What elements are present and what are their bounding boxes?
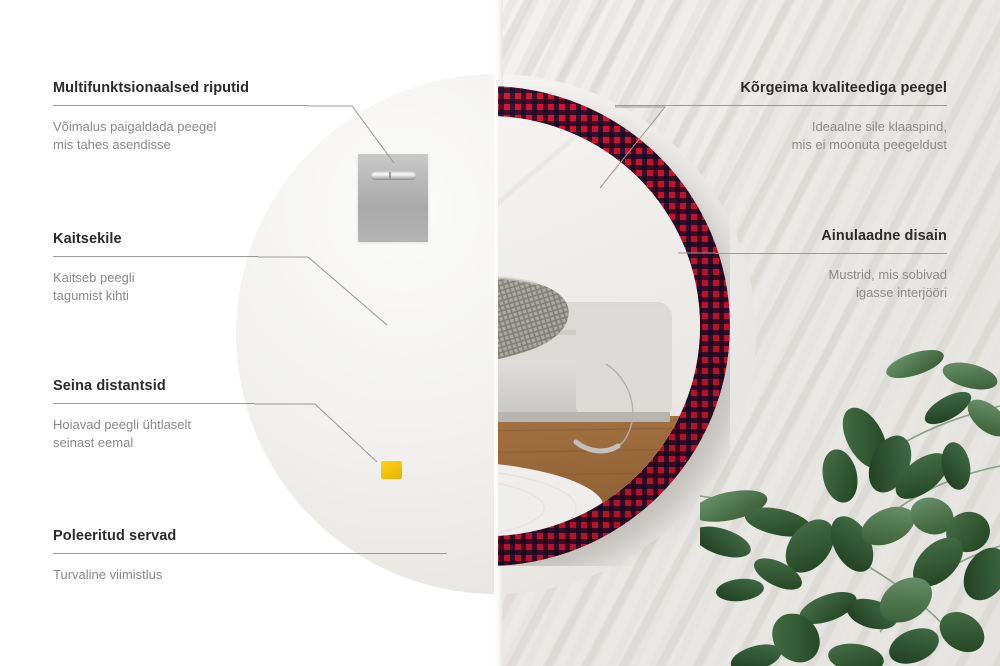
round-mirror	[498, 86, 730, 566]
callout-multifunktsionaalsed-riputid: Multifunktsionaalsed riputid Võimalus pa…	[53, 80, 308, 155]
mirror-crop	[498, 86, 730, 566]
callout-rule	[53, 553, 447, 554]
callout-body: Ideaalne sile klaaspind, mis ei moonuta …	[615, 118, 947, 155]
infographic-canvas: Multifunktsionaalsed riputid Võimalus pa…	[0, 0, 1000, 666]
callout-rule	[716, 253, 947, 254]
callout-body: Hoiavad peegli ühtlaselt seinast eemal	[53, 416, 255, 453]
wall-spacer	[381, 461, 402, 479]
callout-title: Seina distantsid	[53, 378, 255, 394]
callout-rule	[53, 105, 308, 106]
callout-rule	[53, 256, 258, 257]
callout-body: Kaitseb peegli tagumist kihti	[53, 269, 258, 306]
callout-korgeima-kvaliteediga-peegel: Kõrgeima kvaliteediga peegel Ideaalne si…	[615, 80, 947, 155]
hanger-slot	[371, 171, 416, 180]
mirror-hanger-plate	[358, 154, 428, 242]
callout-title: Kaitsekile	[53, 231, 258, 247]
callout-rule	[53, 403, 255, 404]
callout-title: Poleeritud servad	[53, 528, 447, 544]
callout-body: Võimalus paigaldada peegel mis tahes ase…	[53, 118, 308, 155]
callout-seina-distantsid: Seina distantsid Hoiavad peegli ühtlasel…	[53, 378, 255, 453]
callout-ainulaadne-disain: Ainulaadne disain Mustrid, mis sobivad i…	[716, 228, 947, 303]
callout-poleeritud-servad: Poleeritud servad Turvaline viimistlus	[53, 528, 447, 584]
callout-title: Kõrgeima kvaliteediga peegel	[615, 80, 947, 96]
callout-title: Ainulaadne disain	[716, 228, 947, 244]
callout-body: Mustrid, mis sobivad igasse interjööri	[716, 266, 947, 303]
callout-title: Multifunktsionaalsed riputid	[53, 80, 308, 96]
callout-body: Turvaline viimistlus	[53, 566, 447, 584]
callout-kaitsekile: Kaitsekile Kaitseb peegli tagumist kihti	[53, 231, 258, 306]
plant-foliage	[700, 346, 1000, 666]
callout-rule	[615, 105, 947, 106]
